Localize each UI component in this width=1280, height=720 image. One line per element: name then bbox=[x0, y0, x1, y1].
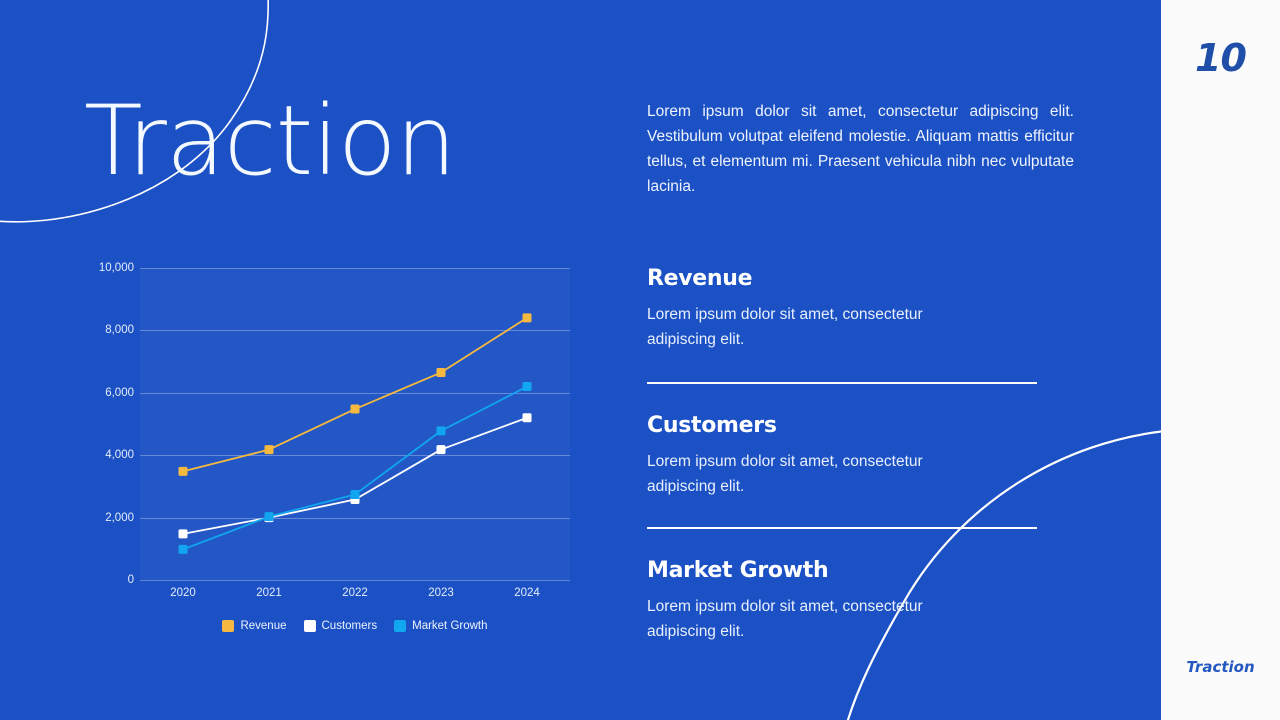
section-title: Revenue bbox=[647, 266, 1037, 291]
side-panel: 10 Traction bbox=[1161, 0, 1280, 720]
slide: Traction Lorem ipsum dolor sit amet, con… bbox=[0, 0, 1280, 720]
x-axis-tick-label: 2020 bbox=[170, 587, 196, 599]
data-point-marker bbox=[265, 445, 274, 454]
page-title: Traction bbox=[84, 93, 456, 189]
legend-item[interactable]: Customers bbox=[304, 620, 378, 632]
chart-y-axis: 02,0004,0006,0008,00010,000 bbox=[84, 268, 134, 580]
data-point-marker bbox=[179, 467, 188, 476]
section-title: Customers bbox=[647, 413, 1037, 438]
y-axis-tick-label: 4,000 bbox=[80, 449, 134, 461]
page-number: 10 bbox=[1161, 36, 1280, 80]
y-axis-tick-label: 6,000 bbox=[80, 387, 134, 399]
x-axis-tick-label: 2023 bbox=[428, 587, 454, 599]
data-point-marker bbox=[437, 426, 446, 435]
chart-series-svg bbox=[140, 268, 570, 580]
x-axis-tick-label: 2021 bbox=[256, 587, 282, 599]
section-body: Lorem ipsum dolor sit amet, consectetur … bbox=[647, 449, 987, 499]
traction-line-chart: 02,0004,0006,0008,00010,000 202020212022… bbox=[84, 255, 584, 645]
slide-blue-background: Traction Lorem ipsum dolor sit amet, con… bbox=[0, 0, 1161, 720]
data-point-marker bbox=[179, 529, 188, 538]
section-divider-2 bbox=[647, 527, 1037, 529]
data-point-marker bbox=[351, 490, 360, 499]
y-axis-tick-label: 10,000 bbox=[80, 262, 134, 274]
x-axis-tick-label: 2024 bbox=[514, 587, 540, 599]
data-point-marker bbox=[265, 512, 274, 521]
section-title: Market Growth bbox=[647, 558, 1037, 583]
legend-swatch-icon bbox=[304, 620, 316, 632]
series-line bbox=[183, 318, 527, 472]
side-section-label: Traction bbox=[1161, 658, 1280, 676]
y-axis-tick-label: 2,000 bbox=[80, 512, 134, 524]
y-axis-tick-label: 8,000 bbox=[80, 324, 134, 336]
section-body: Lorem ipsum dolor sit amet, consectetur … bbox=[647, 302, 987, 352]
intro-paragraph: Lorem ipsum dolor sit amet, consectetur … bbox=[647, 99, 1074, 199]
data-point-marker bbox=[179, 545, 188, 554]
series-line bbox=[183, 418, 527, 534]
data-point-marker bbox=[351, 405, 360, 414]
legend-label: Revenue bbox=[240, 620, 286, 632]
data-point-marker bbox=[437, 368, 446, 377]
section-revenue: Revenue Lorem ipsum dolor sit amet, cons… bbox=[647, 266, 1037, 352]
chart-legend: RevenueCustomersMarket Growth bbox=[140, 620, 570, 632]
section-divider-1 bbox=[647, 382, 1037, 384]
gridline bbox=[140, 580, 570, 581]
section-market-growth: Market Growth Lorem ipsum dolor sit amet… bbox=[647, 558, 1037, 644]
y-axis-tick-label: 0 bbox=[80, 574, 134, 586]
data-point-marker bbox=[523, 413, 532, 422]
legend-swatch-icon bbox=[222, 620, 234, 632]
legend-label: Customers bbox=[322, 620, 378, 632]
section-customers: Customers Lorem ipsum dolor sit amet, co… bbox=[647, 413, 1037, 499]
data-point-marker bbox=[437, 445, 446, 454]
legend-label: Market Growth bbox=[412, 620, 487, 632]
section-body: Lorem ipsum dolor sit amet, consectetur … bbox=[647, 594, 987, 644]
data-point-marker bbox=[523, 313, 532, 322]
x-axis-tick-label: 2022 bbox=[342, 587, 368, 599]
legend-item[interactable]: Revenue bbox=[222, 620, 286, 632]
legend-swatch-icon bbox=[394, 620, 406, 632]
legend-item[interactable]: Market Growth bbox=[394, 620, 487, 632]
data-point-marker bbox=[523, 382, 532, 391]
